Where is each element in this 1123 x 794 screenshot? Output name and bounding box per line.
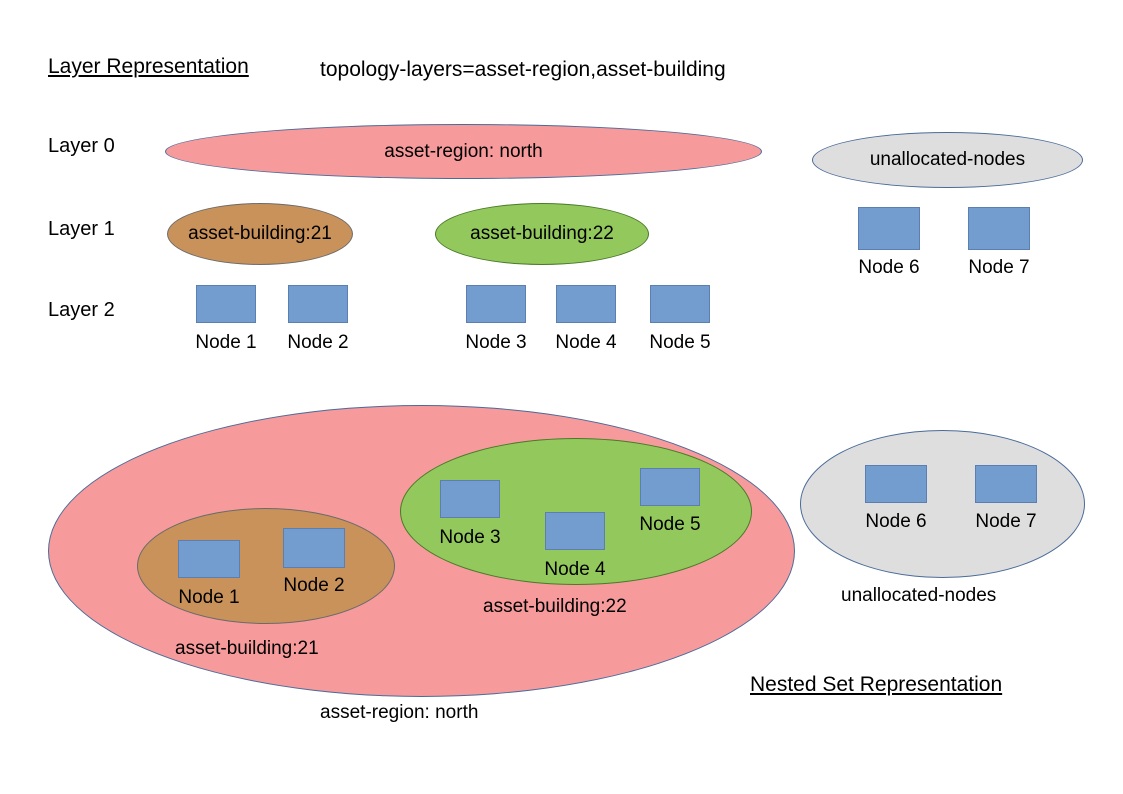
layer-2-label: Layer 2 bbox=[48, 299, 115, 322]
layer-node-5-label: Node 5 bbox=[630, 332, 730, 354]
nested-node-5-label: Node 5 bbox=[620, 514, 720, 536]
layer1-asset-building-22-ellipse[interactable]: asset-building:22 bbox=[435, 203, 649, 265]
nested-unallocated-nodes-label: unallocated-nodes bbox=[841, 585, 996, 607]
layer-node-4-label: Node 4 bbox=[536, 332, 636, 354]
nested-asset-region-label: asset-region: north bbox=[320, 702, 478, 724]
layer-node-4-rect[interactable] bbox=[556, 285, 616, 323]
layer-node-1-rect[interactable] bbox=[196, 285, 256, 323]
layer0-unallocated-nodes-label: unallocated-nodes bbox=[870, 149, 1025, 171]
layer-node-7-rect[interactable] bbox=[968, 207, 1030, 250]
layer-0-label: Layer 0 bbox=[48, 135, 115, 158]
nested-unallocated-nodes-ellipse[interactable] bbox=[800, 430, 1085, 578]
topology-layers-formula: topology-layers=asset-region,asset-build… bbox=[320, 58, 726, 82]
layer1-asset-building-21-ellipse[interactable]: asset-building:21 bbox=[167, 203, 353, 265]
nested-node-5-rect[interactable] bbox=[640, 468, 700, 506]
nested-node-7-rect[interactable] bbox=[975, 465, 1037, 503]
layer-representation-title: Layer Representation bbox=[48, 55, 249, 79]
layer1-asset-building-22-label: asset-building:22 bbox=[470, 223, 614, 245]
nested-node-3-label: Node 3 bbox=[420, 527, 520, 549]
layer-node-1-label: Node 1 bbox=[176, 332, 276, 354]
nested-node-3-rect[interactable] bbox=[440, 480, 500, 518]
nested-node-2-rect[interactable] bbox=[283, 528, 345, 568]
layer0-asset-region-ellipse[interactable]: asset-region: north bbox=[165, 124, 762, 179]
nested-asset-building-22-label: asset-building:22 bbox=[483, 596, 627, 618]
layer1-asset-building-21-label: asset-building:21 bbox=[188, 223, 332, 245]
layer-node-3-rect[interactable] bbox=[466, 285, 526, 323]
layer0-asset-region-label: asset-region: north bbox=[384, 141, 542, 163]
nested-asset-building-21-label: asset-building:21 bbox=[175, 638, 319, 660]
layer-node-5-rect[interactable] bbox=[650, 285, 710, 323]
nested-node-6-label: Node 6 bbox=[845, 511, 947, 533]
nested-node-1-label: Node 1 bbox=[158, 587, 260, 609]
nested-node-6-rect[interactable] bbox=[865, 465, 927, 503]
nested-node-4-label: Node 4 bbox=[525, 559, 625, 581]
layer0-unallocated-nodes-ellipse[interactable]: unallocated-nodes bbox=[812, 132, 1083, 188]
nested-node-2-label: Node 2 bbox=[263, 575, 365, 597]
layer-node-2-label: Node 2 bbox=[268, 332, 368, 354]
layer-node-6-label: Node 6 bbox=[838, 257, 940, 279]
layer-node-7-label: Node 7 bbox=[948, 257, 1050, 279]
nested-node-1-rect[interactable] bbox=[178, 540, 240, 578]
layer-node-3-label: Node 3 bbox=[446, 332, 546, 354]
nested-set-representation-title: Nested Set Representation bbox=[750, 673, 1002, 697]
layer-node-6-rect[interactable] bbox=[858, 207, 920, 250]
layer-1-label: Layer 1 bbox=[48, 218, 115, 241]
nested-node-7-label: Node 7 bbox=[955, 511, 1057, 533]
layer-node-2-rect[interactable] bbox=[288, 285, 348, 323]
nested-node-4-rect[interactable] bbox=[545, 512, 605, 550]
diagram-canvas: Layer Representation topology-layers=ass… bbox=[0, 0, 1123, 794]
